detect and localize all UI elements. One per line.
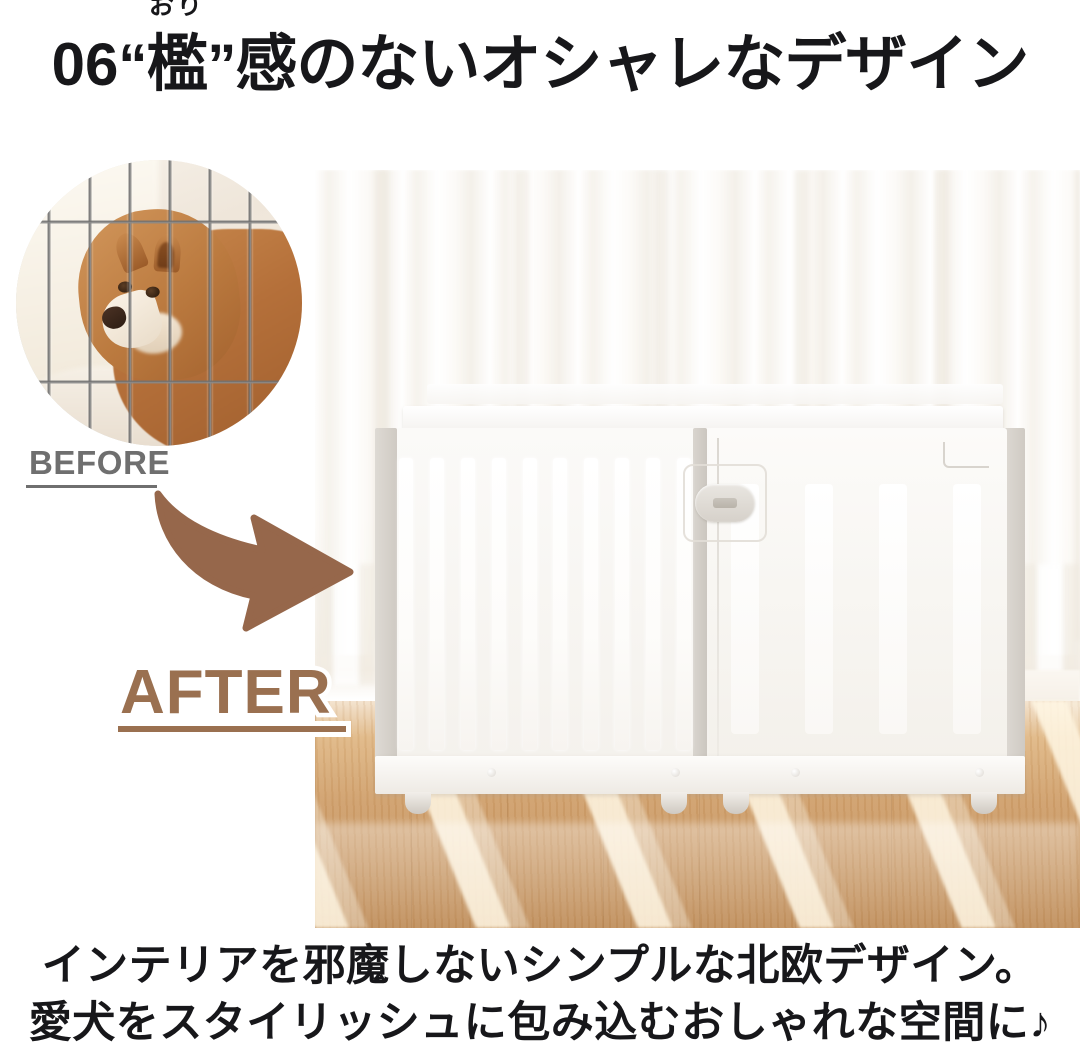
gate-door-slat xyxy=(879,484,907,734)
cage-bar-vertical xyxy=(168,160,172,446)
gate-screw xyxy=(487,768,496,777)
after-label: AFTER xyxy=(120,662,332,724)
gate-left-panel-slats xyxy=(399,458,691,750)
quote-close: ” xyxy=(207,33,235,98)
gate-screw xyxy=(671,768,680,777)
gate-slat xyxy=(492,458,506,750)
gate-slat xyxy=(399,458,413,750)
before-dog-photo xyxy=(16,160,302,446)
gate-top-rail-back xyxy=(427,384,1003,404)
gate-slat xyxy=(584,458,598,750)
floor-reflection xyxy=(315,823,1080,928)
gate-screw xyxy=(975,768,984,777)
gate-slat xyxy=(553,458,567,750)
headline-kanji: 檻 xyxy=(146,30,207,99)
gate-door-slat xyxy=(805,484,833,734)
ruby-host: おり檻 xyxy=(146,34,207,96)
wire-cage-bars xyxy=(16,160,302,446)
gate-slat xyxy=(461,458,475,750)
caption-line-2: 愛犬をスタイリッシュに包み込むおしゃれな空間に♪ xyxy=(0,995,1080,1052)
after-product-photo xyxy=(315,170,1080,928)
cage-bar-vertical xyxy=(128,160,132,446)
gate-slat xyxy=(615,458,629,750)
gate-caster xyxy=(971,792,997,814)
cage-bar-vertical xyxy=(248,160,252,446)
gate-caster xyxy=(723,792,749,814)
pet-gate xyxy=(375,406,1025,818)
gate-door-slat xyxy=(953,484,981,734)
headline-number: 06 xyxy=(52,31,119,98)
cage-bar-vertical xyxy=(88,160,92,446)
headline-text: 06“おり檻”感のないオシャレなデザイン xyxy=(52,34,1029,96)
bottom-caption: インテリアを邪魔しないシンプルな北欧デザイン。 愛犬をスタイリッシュに包み込むお… xyxy=(0,938,1080,1052)
cage-bar-horizontal xyxy=(16,380,302,384)
after-underline xyxy=(118,726,346,732)
gate-caster xyxy=(661,792,687,814)
cage-bar-vertical xyxy=(47,160,51,446)
cage-bar-horizontal xyxy=(16,220,302,224)
cage-bar-vertical xyxy=(208,160,212,446)
gate-door-notch xyxy=(943,442,989,468)
gate-screw xyxy=(791,768,800,777)
before-label: BEFORE xyxy=(29,446,170,479)
caption-line-1: インテリアを邪魔しないシンプルな北欧デザイン。 xyxy=(0,938,1080,995)
gate-slat xyxy=(430,458,444,750)
curved-arrow-icon xyxy=(150,488,360,636)
gate-slat xyxy=(646,458,660,750)
gate-bottom-rail xyxy=(375,756,1025,794)
quote-open: “ xyxy=(118,33,146,98)
ruby-text: おり xyxy=(149,0,205,19)
gate-latch-icon xyxy=(695,484,755,522)
gate-caster xyxy=(405,792,431,814)
gate-door-slats xyxy=(731,484,981,734)
page-title: 06“おり檻”感のないオシャレなデザイン xyxy=(0,34,1080,96)
headline-rest: 感のないオシャレなデザイン xyxy=(235,30,1028,99)
before-underline xyxy=(26,485,157,488)
gate-slat xyxy=(523,458,537,750)
gate-post-left xyxy=(375,428,397,780)
